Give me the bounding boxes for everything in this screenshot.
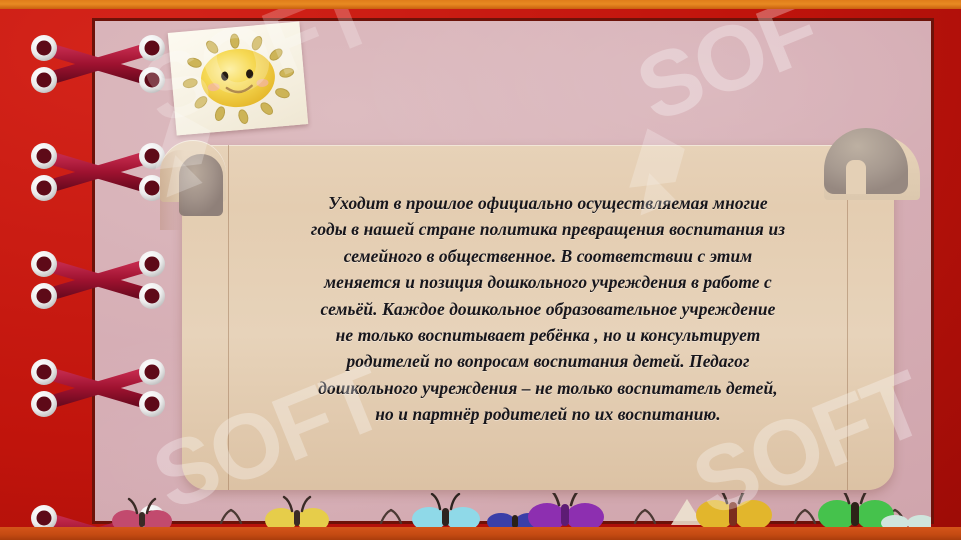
- scroll-body-text: Уходит в прошлое официально осуществляем…: [238, 190, 858, 428]
- scroll-line: семьёй. Каждое дошкольное образовательно…: [238, 296, 858, 322]
- scroll-crease-left: [228, 145, 229, 490]
- scroll-banner: Уходит в прошлое официально осуществляем…: [160, 98, 920, 493]
- scroll-line: но и партнёр родителей по их воспитанию.: [238, 401, 858, 427]
- scroll-roll-left-knob: [179, 154, 223, 216]
- scroll-line: годы в нашей стране политика превращения…: [238, 216, 858, 242]
- scroll-roll-right-knob: [824, 128, 908, 194]
- scroll-roll-right-notch: [846, 160, 866, 194]
- top-accent-strip: [0, 0, 961, 9]
- scroll-line: меняется и позиция дошкольного учреждени…: [238, 269, 858, 295]
- scroll-line: не только воспитывает ребёнка , но и кон…: [238, 322, 858, 348]
- bottom-accent-strip: [0, 527, 961, 540]
- scroll-line: Уходит в прошлое официально осуществляем…: [238, 190, 858, 216]
- scroll-line: родителей по вопросам воспитания детей. …: [238, 348, 858, 374]
- scroll-line: семейного в общественное. В соответствии…: [238, 243, 858, 269]
- slide-root: Уходит в прошлое официально осуществляем…: [0, 0, 961, 540]
- scroll-line: дошкольного учреждения – не только воспи…: [238, 375, 858, 401]
- scroll-roll-left: [160, 140, 226, 236]
- scroll-roll-left-shade: [160, 150, 184, 230]
